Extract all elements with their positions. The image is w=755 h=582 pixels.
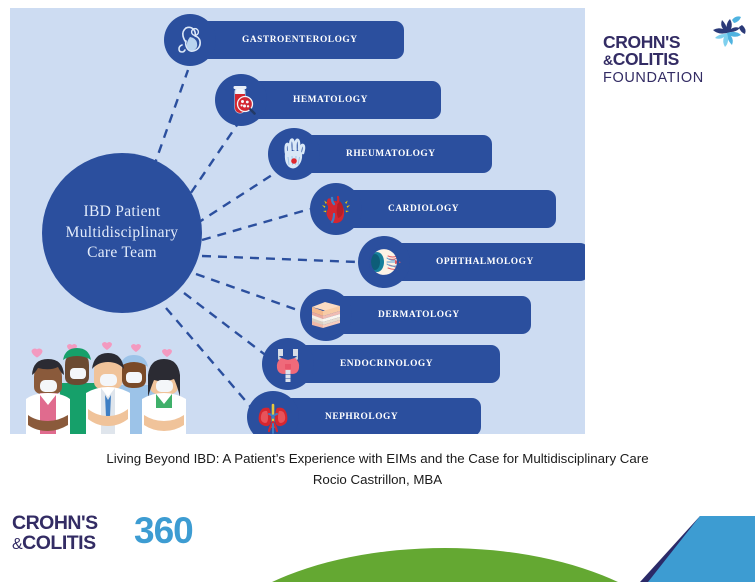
specialty-label: HEMATOLOGY [293,95,368,105]
foundation-logo-text: CROHN'S &COLITIS FOUNDATION [603,34,715,87]
specialty-label: RHEUMATOLOGY [346,149,436,159]
central-hub-node: IBD Patient Multidisciplinary Care Team [42,153,202,313]
specialty-pill[interactable]: DERMATOLOGY [326,296,531,334]
heart-icon [310,183,362,235]
specialty-node-endocrinology[interactable]: ENDOCRINOLOGY [262,338,526,390]
specialty-node-cardiology[interactable]: CARDIOLOGY [310,183,582,235]
kidneys-icon [247,391,299,434]
specialty-node-hematology[interactable]: HEMATOLOGY [215,74,467,126]
slide-caption: Living Beyond IBD: A Patient’s Experienc… [0,448,755,490]
specialty-label: CARDIOLOGY [388,204,459,214]
blue-wedge [648,516,755,582]
stomach-icon [164,14,216,66]
caption-line-author: Rocio Castrillon, MBA [0,469,755,490]
specialty-node-nephrology[interactable]: NEPHROLOGY [247,391,507,434]
hub-label-line3: Care Team [87,244,157,261]
diagram-panel: IBD Patient Multidisciplinary Care Team … [10,8,585,434]
cc360-wordmark: CROHN'S &COLITIS [12,514,98,554]
specialty-node-rheumatology[interactable]: RHEUMATOLOGY [268,128,518,180]
specialty-pill[interactable]: CARDIOLOGY [336,190,556,228]
crohns-colitis-360-logo: CROHN'S &COLITIS 360 [12,510,227,562]
specialty-pill[interactable]: OPHTHALMOLOGY [384,243,585,281]
specialty-label: OPHTHALMOLOGY [436,257,534,267]
thyroid-icon [262,338,314,390]
specialty-pill[interactable]: HEMATOLOGY [241,81,441,119]
hand-xray-icon [268,128,320,180]
specialty-label: DERMATOLOGY [378,310,460,320]
specialty-label: ENDOCRINOLOGY [340,359,433,369]
caption-line-title: Living Beyond IBD: A Patient’s Experienc… [0,448,755,469]
cc360-number: 360 [134,512,193,549]
specialty-node-dermatology[interactable]: DERMATOLOGY [300,289,557,341]
specialty-pill[interactable]: NEPHROLOGY [273,398,481,434]
skin-layers-icon [300,289,352,341]
specialty-pill[interactable]: RHEUMATOLOGY [294,135,492,173]
hub-label: IBD Patient Multidisciplinary Care Team [56,202,189,263]
specialty-pill[interactable]: ENDOCRINOLOGY [288,345,500,383]
specialty-node-ophthalmology[interactable]: OPHTHALMOLOGY [358,236,585,288]
foundation-logo-line2: &COLITIS [603,51,715,69]
cc360-line2: &COLITIS [12,534,98,555]
eye-icon [358,236,410,288]
specialty-node-gastroenterology[interactable]: GASTROENTEROLOGY [164,14,430,66]
medical-team-illustration [18,335,198,434]
green-arc [197,548,693,582]
ampersand: & [603,52,613,68]
crohns-colitis-foundation-logo: CROHN'S &COLITIS FOUNDATION [603,14,748,84]
ampersand: & [12,536,22,553]
foundation-logo-colitis: COLITIS [613,49,679,69]
foundation-logo-line3: FOUNDATION [603,70,715,87]
test-tube-icon [215,74,267,126]
hub-label-line1: IBD Patient [84,203,161,220]
cc360-colitis: COLITIS [22,532,95,554]
specialty-label: NEPHROLOGY [325,412,398,422]
specialty-pill[interactable]: GASTROENTEROLOGY [190,21,404,59]
specialty-label: GASTROENTEROLOGY [242,35,358,45]
hub-label-line2: Multidisciplinary [66,224,179,241]
footer-band: CROHN'S &COLITIS 360 [0,498,755,582]
